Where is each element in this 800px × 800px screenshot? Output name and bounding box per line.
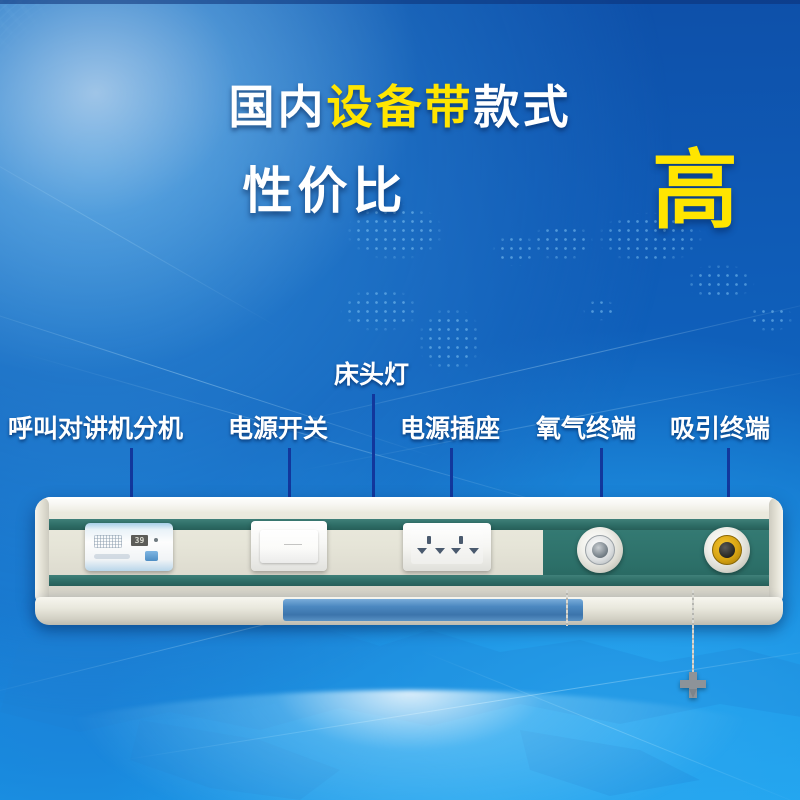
callout-label-power-socket: 电源插座 bbox=[400, 416, 500, 441]
panel-top-highlight bbox=[35, 497, 783, 513]
headline-highlight: 设备带 bbox=[327, 80, 474, 134]
panel-body: 39 bbox=[35, 497, 783, 605]
callout-label-oxygen: 氧气终端 bbox=[536, 416, 636, 441]
product-banner: 国内设备带款式 性价比 高 呼叫对讲机分机 电源开关 床头灯 电源插座 氧气终端… bbox=[0, 0, 800, 800]
oxygen-terminal-unit[interactable] bbox=[577, 527, 623, 573]
pull-cord-pendant[interactable] bbox=[680, 672, 706, 698]
panel-stripe-bottom bbox=[35, 575, 783, 586]
panel-endcap-left bbox=[35, 497, 49, 605]
power-switch-unit[interactable] bbox=[251, 521, 327, 571]
socket-pin-hole bbox=[459, 536, 463, 544]
socket-pin-hole bbox=[427, 536, 431, 544]
suction-pull-cord bbox=[692, 590, 694, 682]
socket-face bbox=[411, 530, 483, 564]
speaker-grille-icon bbox=[94, 535, 122, 548]
callout-label-suction: 吸引终端 bbox=[670, 416, 770, 441]
socket-pin-slot bbox=[417, 548, 427, 554]
rail-blue-strip bbox=[283, 599, 583, 621]
intercom-slot bbox=[94, 554, 130, 559]
callout-label-power-switch: 电源开关 bbox=[228, 416, 328, 441]
headline: 国内设备带款式 bbox=[0, 84, 800, 130]
intercom-display: 39 bbox=[131, 535, 148, 546]
power-socket-unit[interactable] bbox=[403, 523, 491, 571]
callout-label-bed-lamp: 床头灯 bbox=[334, 362, 409, 387]
oxygen-cord bbox=[566, 590, 568, 626]
suction-port-icon bbox=[719, 542, 735, 558]
suction-terminal-unit[interactable] bbox=[704, 527, 750, 573]
oxygen-port-icon bbox=[592, 542, 608, 558]
headline-part3: 款式 bbox=[474, 80, 572, 134]
bed-head-unit-panel: 39 bbox=[35, 497, 783, 625]
socket-pin-slot bbox=[451, 548, 461, 554]
switch-rocker[interactable] bbox=[260, 530, 318, 563]
top-edge-bar bbox=[0, 0, 800, 4]
socket-pin-slot bbox=[435, 548, 445, 554]
headline-big-word: 高 bbox=[652, 148, 738, 234]
switch-indicator-line bbox=[284, 544, 302, 545]
socket-pin-slot bbox=[469, 548, 479, 554]
headline-part1: 国内 bbox=[229, 80, 327, 134]
panel-endcap-right bbox=[769, 497, 783, 605]
callout-label-intercom: 呼叫对讲机分机 bbox=[8, 416, 183, 441]
intercom-call-button[interactable] bbox=[145, 551, 158, 561]
intercom-unit[interactable]: 39 bbox=[85, 523, 173, 571]
pendant-tip-icon bbox=[689, 689, 697, 698]
status-led-icon bbox=[154, 538, 158, 542]
